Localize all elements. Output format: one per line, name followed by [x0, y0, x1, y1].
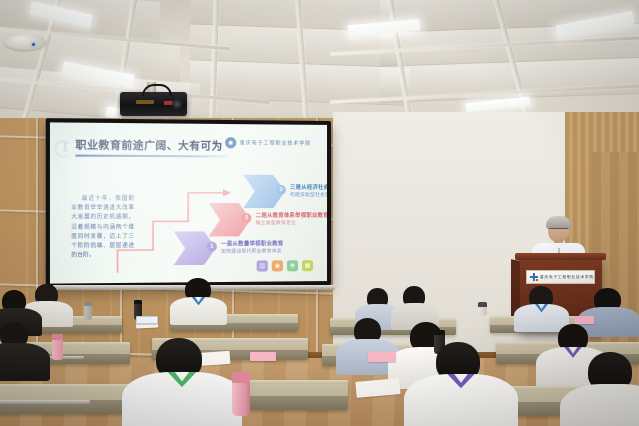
water-bottle-pink: [232, 372, 250, 416]
projection-screen: 1 职业教育前途广阔、大有可为 重庆电子工程职业技术学院 最近十年，我国职业教育…: [46, 118, 331, 288]
title-underline: [75, 155, 234, 158]
slide-number: 1: [56, 138, 73, 157]
slide-paragraph: 最近十年，我国职业教育举举遇逢大改革大发展的历史机遇期，沿着规模与内涵两个维度同…: [71, 195, 134, 261]
desk-edge: [0, 384, 140, 388]
attendee-front-right: [408, 342, 512, 426]
step-1-line2: 加快建设现代职业教育体系: [221, 247, 283, 254]
attendee-back-left-3: [170, 278, 226, 322]
school-emblem-icon: [530, 273, 538, 281]
water-bottle-grey: [84, 302, 92, 320]
attendee-center-1: [0, 322, 48, 378]
slide-footer-icons: ▤ ◉ ❀ ▦: [257, 260, 313, 271]
bottle-cap: [134, 300, 142, 304]
step-bullet-2: 2: [241, 213, 251, 223]
ceiling: [0, 0, 639, 128]
attendee-shoulder: [404, 374, 518, 426]
step-label-2: 2 二是从教育体系举视职业教育 确立类型教育定位: [256, 211, 327, 226]
step-label-1: 1 一是从数量举视职业教育 加快建设现代职业教育体系: [221, 239, 283, 254]
screen-surface: 1 职业教育前途广阔、大有可为 重庆电子工程职业技术学院 最近十年，我国职业教育…: [50, 122, 327, 283]
projector-label: [136, 100, 154, 104]
name-card-pink-mid2: [368, 352, 396, 362]
ceiling-projector: [120, 92, 187, 116]
bottle-cap: [232, 372, 250, 383]
water-bottle-pink2: [52, 334, 63, 360]
name-card-pink-mid: [250, 352, 276, 361]
slide-logo: 重庆电子工程职业技术学院: [225, 137, 311, 149]
step-bullet-3: 3: [276, 185, 286, 195]
water-bottle-cup: [478, 302, 487, 316]
conference-room-screenshot: 1 职业教育前途广阔、大有可为 重庆电子工程职业技术学院 最近十年，我国职业教育…: [0, 0, 639, 426]
projector-lens: [172, 99, 182, 109]
grid-icon: ▦: [302, 260, 313, 271]
name-card-pink-far: [574, 316, 594, 324]
podium-sign: 重庆电子工程职业技术学院: [526, 270, 595, 284]
smoke-detector: [4, 34, 46, 50]
school-seal-icon: [225, 137, 236, 148]
attendee-front-far-right: [566, 352, 639, 426]
desk-row-near-left: [0, 384, 140, 414]
leaf-icon: ❀: [287, 260, 298, 271]
bottle-cap: [434, 330, 445, 335]
step-label-3: 3 三是从经济社会举视职业教育 构建技能型社会建设: [290, 183, 327, 198]
step-2-line2: 确立类型教育定位: [256, 219, 327, 226]
slide-title: 职业教育前途广阔、大有可为: [75, 137, 222, 153]
step-3-line1: 三是从经济社会举视职业教育: [290, 183, 327, 191]
step-3-line2: 构建技能型社会建设: [290, 191, 327, 198]
bottle-cap: [52, 334, 63, 340]
name-card-far: [136, 316, 158, 324]
presentation-slide: 1 职业教育前途广阔、大有可为 重庆电子工程职业技术学院 最近十年，我国职业教育…: [50, 122, 327, 283]
attendee-shoulder: [560, 384, 639, 426]
attendee-shoulder: [122, 372, 242, 426]
doc-icon: ▤: [257, 260, 268, 271]
attendee-shoulder: [0, 343, 50, 381]
podium-top: [515, 253, 606, 260]
attendee-center-front: [128, 338, 236, 426]
chair-rail-near-left: [0, 400, 90, 404]
slide-logo-text: 重庆电子工程职业技术学院: [240, 139, 311, 147]
person-icon: ◉: [272, 260, 283, 271]
step-2-line1: 二是从教育体系举视职业教育: [256, 211, 327, 219]
bottle-cap: [84, 302, 92, 306]
bottle-cap: [478, 302, 487, 307]
step-bullet-1: 1: [207, 242, 217, 252]
presenter-glasses-icon: [549, 228, 568, 233]
attendee-shoulder: [170, 297, 227, 325]
podium-sign-text: 重庆电子工程职业技术学院: [540, 275, 594, 280]
projector-cable: [142, 84, 172, 96]
